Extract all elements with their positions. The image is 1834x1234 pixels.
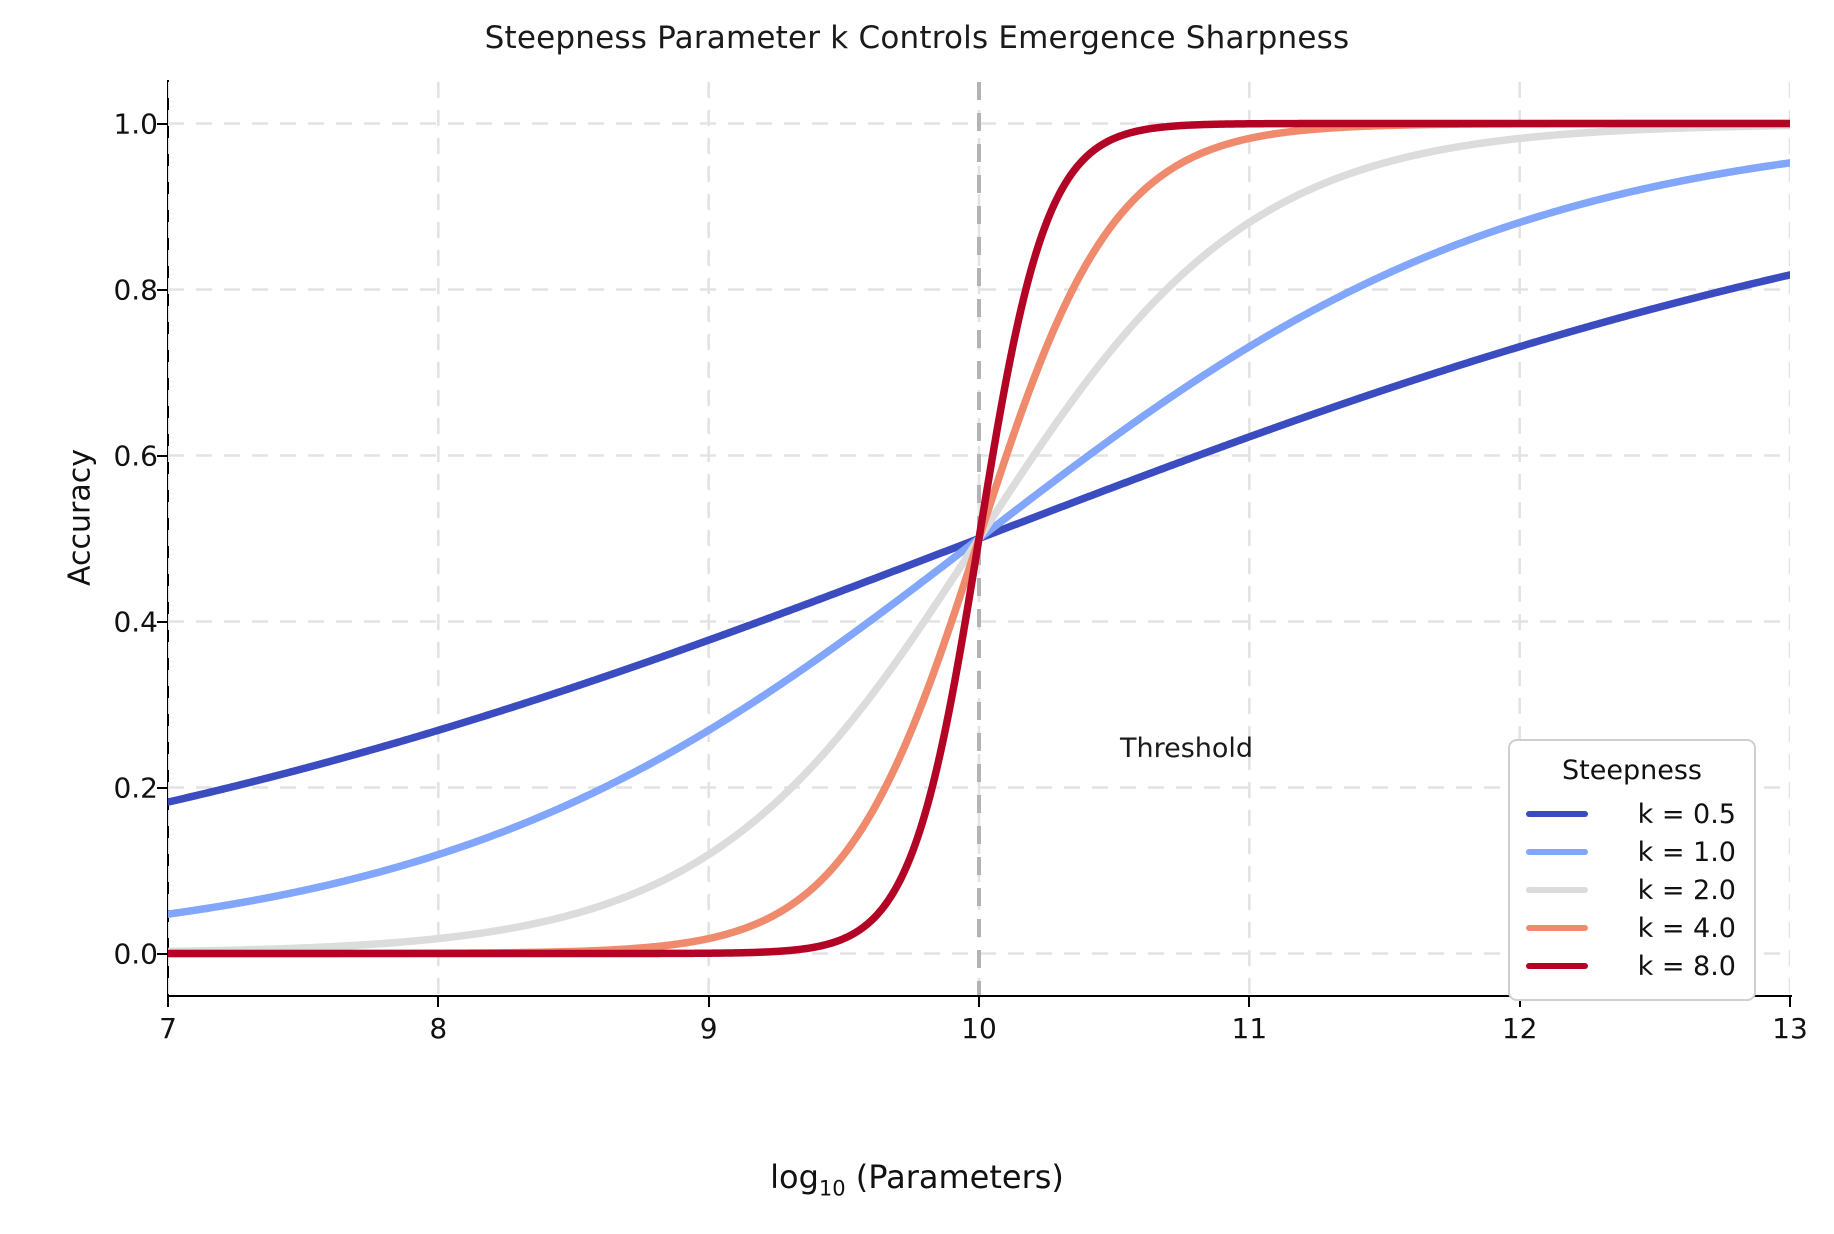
legend-item-label: k = 8.0 [1588, 951, 1738, 982]
x-tick-label: 9 [659, 1012, 759, 1045]
legend[interactable]: Steepness k = 0.5k = 1.0k = 2.0k = 4.0k … [1508, 739, 1756, 1001]
x-axis-label: log10 (Parameters) [0, 1158, 1834, 1200]
legend-item-4[interactable]: k = 8.0 [1526, 947, 1738, 985]
y-axis-label: Accuracy [63, 68, 98, 968]
legend-rows: k = 0.5k = 1.0k = 2.0k = 4.0k = 8.0 [1526, 795, 1738, 985]
x-axis-label-subscript: 10 [819, 1176, 846, 1200]
x-tick-mark [978, 996, 980, 1007]
y-tick-mark [157, 621, 168, 623]
threshold-annotation: Threshold [1120, 733, 1253, 764]
legend-swatch-icon [1526, 925, 1588, 931]
y-tick-label: 0.6 [38, 439, 158, 472]
legend-swatch-icon [1526, 887, 1588, 893]
legend-swatch-icon [1526, 963, 1588, 969]
x-tick-label: 13 [1740, 1012, 1834, 1045]
y-tick-mark [157, 289, 168, 291]
y-tick-mark [157, 123, 168, 125]
y-tick-mark [157, 953, 168, 955]
x-tick-label: 11 [1199, 1012, 1299, 1045]
x-tick-label: 10 [929, 1012, 1029, 1045]
y-tick-label: 0.0 [38, 937, 158, 970]
legend-title: Steepness [1526, 755, 1738, 786]
y-tick-label: 1.0 [38, 107, 158, 140]
y-tick-mark [157, 455, 168, 457]
legend-item-2[interactable]: k = 2.0 [1526, 871, 1738, 909]
legend-item-3[interactable]: k = 4.0 [1526, 909, 1738, 947]
x-tick-mark [167, 996, 169, 1007]
figure: Steepness Parameter k Controls Emergence… [0, 0, 1834, 1234]
legend-item-label: k = 0.5 [1588, 799, 1738, 830]
legend-item-label: k = 1.0 [1588, 837, 1738, 868]
legend-item-label: k = 4.0 [1588, 913, 1738, 944]
y-tick-mark [157, 787, 168, 789]
legend-item-label: k = 2.0 [1588, 875, 1738, 906]
legend-swatch-icon [1526, 849, 1588, 855]
x-tick-label: 12 [1470, 1012, 1570, 1045]
y-tick-label: 0.8 [38, 273, 158, 306]
page-title: Steepness Parameter k Controls Emergence… [0, 20, 1834, 56]
x-tick-mark [1789, 996, 1791, 1007]
x-axis-label-suffix: (Parameters) [856, 1158, 1064, 1196]
x-tick-mark [708, 996, 710, 1007]
legend-swatch-icon [1526, 811, 1588, 817]
x-tick-label: 7 [118, 1012, 218, 1045]
legend-item-1[interactable]: k = 1.0 [1526, 833, 1738, 871]
x-tick-label: 8 [388, 1012, 488, 1045]
x-tick-mark [437, 996, 439, 1007]
legend-item-0[interactable]: k = 0.5 [1526, 795, 1738, 833]
y-tick-label: 0.2 [38, 771, 158, 804]
y-tick-label: 0.4 [38, 605, 158, 638]
x-axis-label-prefix: log [770, 1158, 819, 1196]
x-tick-mark [1248, 996, 1250, 1007]
